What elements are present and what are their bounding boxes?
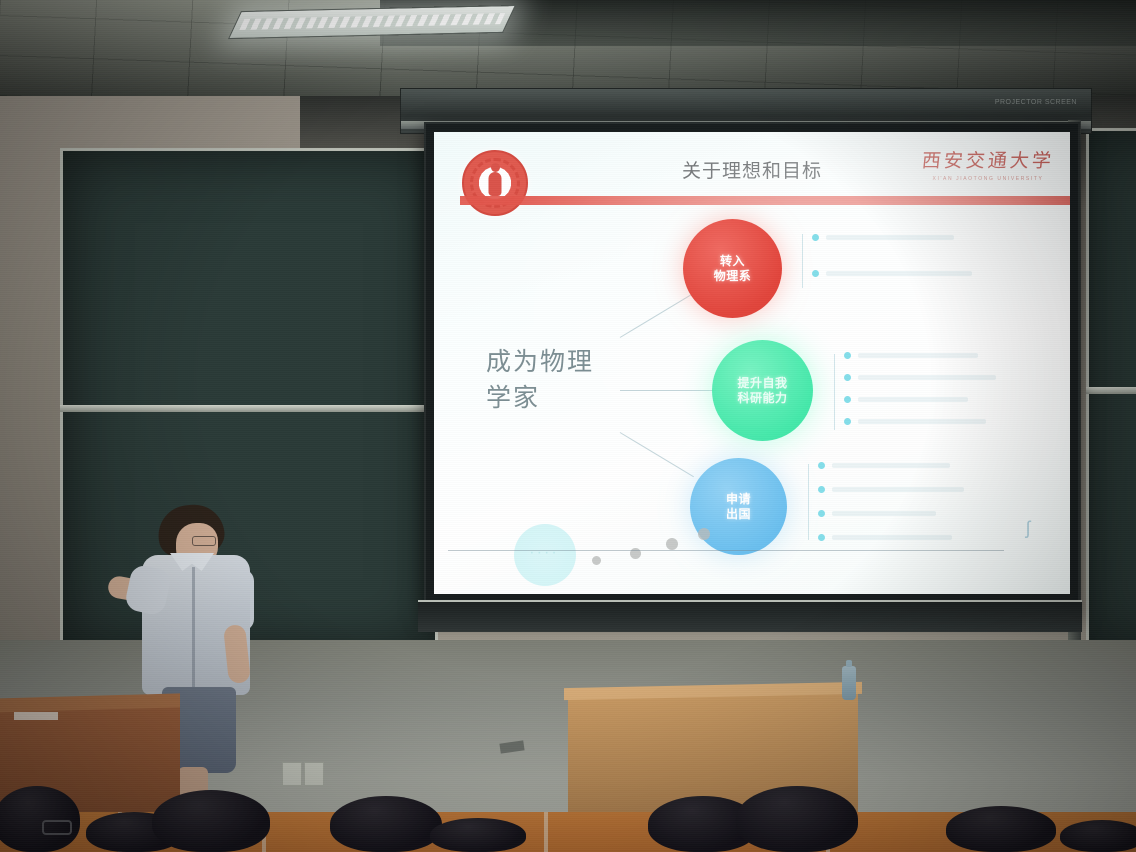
bullet-dot <box>818 486 825 493</box>
bullet-text-faint <box>832 487 964 492</box>
bullet-dot <box>844 396 851 403</box>
bubble-transfer-line2: 物理系 <box>714 269 752 283</box>
audience-head <box>430 818 526 852</box>
trail-dot <box>666 538 678 550</box>
bullet-group-abroad <box>808 460 988 544</box>
bubble-more-label: ···· <box>530 549 560 560</box>
housing-brand-label: PROJECTOR SCREEN <box>995 99 1077 106</box>
title-divider-rule <box>460 196 1070 205</box>
bullet-guide-line <box>808 464 809 540</box>
slide-corner-mark: ʃ <box>1026 518 1036 544</box>
presentation-slide: 关于理想和目标 西安交通大学 XI'AN JIAOTONG UNIVERSITY… <box>434 132 1070 594</box>
bubble-research-line1: 提升自我 <box>737 376 787 390</box>
wall-outlet <box>304 762 324 786</box>
water-bottle <box>842 666 856 700</box>
bubble-research-line2: 科研能力 <box>737 391 787 405</box>
bullet-text-faint <box>832 463 950 468</box>
screen-bottom-bar <box>418 600 1082 632</box>
bullet-text-faint <box>858 375 996 380</box>
wall-outlet <box>282 762 302 786</box>
bullet-guide-line <box>802 234 803 288</box>
fluorescent-tube <box>239 13 505 30</box>
bullet-text-faint <box>858 397 968 402</box>
bullet-guide-line <box>834 354 835 430</box>
audience-head <box>330 796 442 852</box>
bubble-transfer-line1: 转入 <box>720 254 745 268</box>
audience-head <box>736 786 858 852</box>
presenter-glasses <box>192 536 216 546</box>
connector-line <box>620 390 716 391</box>
bullet-dot <box>844 352 851 359</box>
bullet-text-faint <box>826 271 972 276</box>
bubble-more: ···· <box>514 524 576 586</box>
bullet-dot <box>812 270 819 277</box>
bullet-group-transfer <box>802 230 982 292</box>
bullet-text-faint <box>832 535 952 540</box>
lecture-hall-photo: PROJECTOR SCREEN 关于理想和目标 西安交通大学 XI'AN JI… <box>0 0 1136 852</box>
university-name-en: XI'AN JIAOTONG UNIVERSITY <box>922 176 1054 182</box>
connector-line <box>620 293 694 338</box>
slide-footer-rule <box>448 550 1004 551</box>
bubble-abroad-line2: 出国 <box>726 507 751 521</box>
goal-label: 成为物理学家 <box>486 344 616 417</box>
bullet-dot <box>818 510 825 517</box>
bullet-text-faint <box>858 419 986 424</box>
bubble-abroad-line1: 申请 <box>726 492 751 506</box>
bullet-text-faint <box>858 353 978 358</box>
projection-screen: 关于理想和目标 西安交通大学 XI'AN JIAOTONG UNIVERSITY… <box>424 122 1080 616</box>
chalkboard-rail <box>1086 387 1136 394</box>
chalkboard-right <box>1086 128 1136 654</box>
audience-head <box>1060 820 1136 852</box>
bullet-dot <box>818 462 825 469</box>
university-logo: 西安交通大学 XI'AN JIAOTONG UNIVERSITY <box>922 146 1054 182</box>
audience-head <box>0 786 80 852</box>
bubble-research: 提升自我 科研能力 <box>712 340 813 441</box>
seat-divider <box>544 812 548 852</box>
audience-head <box>946 806 1056 852</box>
presenter-shirt-placket <box>192 567 195 693</box>
bullet-dot <box>844 374 851 381</box>
bubble-transfer: 转入 物理系 <box>683 219 782 318</box>
audience-head <box>152 790 270 852</box>
bullet-dot <box>844 418 851 425</box>
trail-dot <box>698 528 710 540</box>
ceiling <box>0 0 1136 96</box>
podium-paper <box>14 712 58 720</box>
trail-dot <box>592 556 601 565</box>
bubble-abroad: 申请 出国 <box>690 458 787 555</box>
bullet-dot <box>818 534 825 541</box>
chalkboard-rail <box>60 405 438 412</box>
bullet-group-research <box>834 350 1014 434</box>
university-name-cn: 西安交通大学 <box>921 146 1056 173</box>
bullet-text-faint <box>832 511 936 516</box>
bullet-dot <box>812 234 819 241</box>
bullet-text-faint <box>826 235 954 240</box>
connector-line <box>620 432 694 477</box>
